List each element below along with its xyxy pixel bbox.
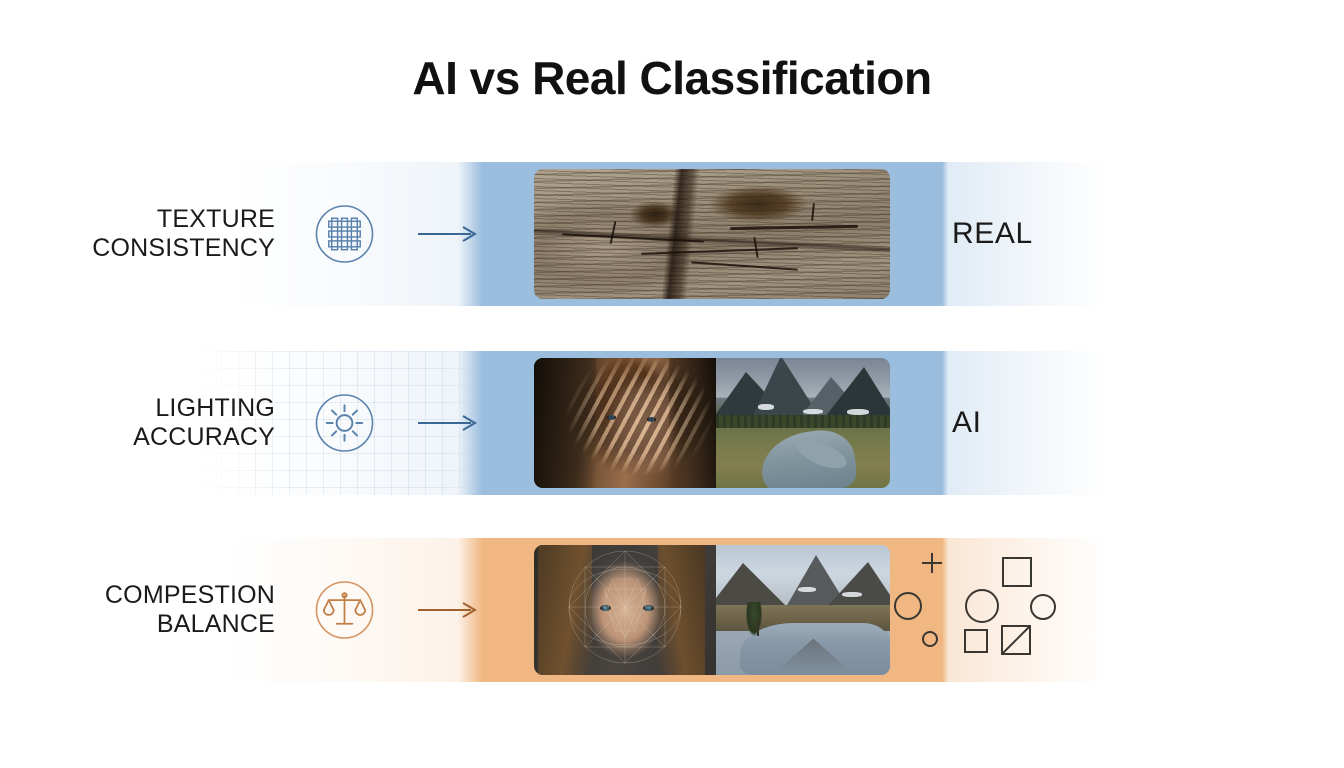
sun-icon bbox=[315, 394, 374, 453]
arrow-right-icon bbox=[418, 601, 478, 619]
square-shape-large bbox=[1003, 558, 1031, 586]
circle-shape-medium bbox=[895, 593, 921, 619]
row-label-texture-consistency: TEXTURE CONSISTENCY bbox=[60, 162, 275, 306]
row-label-lighting-accuracy: LIGHTING ACCURACY bbox=[60, 351, 275, 495]
row-label-compestion-balance: COMPESTION BALANCE bbox=[60, 538, 275, 682]
circle-shape-outline bbox=[1031, 595, 1055, 619]
arrow-right-icon bbox=[418, 414, 478, 432]
classification-row-lighting-accuracy: LIGHTING ACCURACY bbox=[0, 351, 1344, 495]
ai-portrait-facemesh-photo bbox=[534, 545, 716, 675]
wood-texture-photo bbox=[534, 169, 890, 299]
circle-shape-large bbox=[966, 590, 998, 622]
classification-row-texture-consistency: TEXTURE CONSISTENCY bbox=[0, 162, 1344, 306]
page-title: AI vs Real Classification bbox=[0, 55, 1344, 101]
result-label-ai: AI bbox=[952, 406, 982, 440]
portrait-blind-shadows-photo bbox=[534, 358, 716, 488]
classification-row-compestion-balance: COMPESTION BALANCE bbox=[0, 538, 1344, 682]
scales-icon bbox=[315, 581, 374, 640]
arrow-right-icon bbox=[418, 225, 478, 243]
weave-icon bbox=[315, 205, 374, 264]
mountain-valley-river-photo bbox=[716, 358, 890, 488]
result-label-real: REAL bbox=[952, 217, 1033, 251]
circle-shape-small bbox=[923, 632, 937, 646]
square-shape-small bbox=[965, 630, 987, 652]
mountain-lake-reflection-photo bbox=[716, 545, 890, 675]
face-mesh-overlay bbox=[534, 545, 716, 675]
decorative-shapes-group bbox=[880, 538, 1110, 682]
